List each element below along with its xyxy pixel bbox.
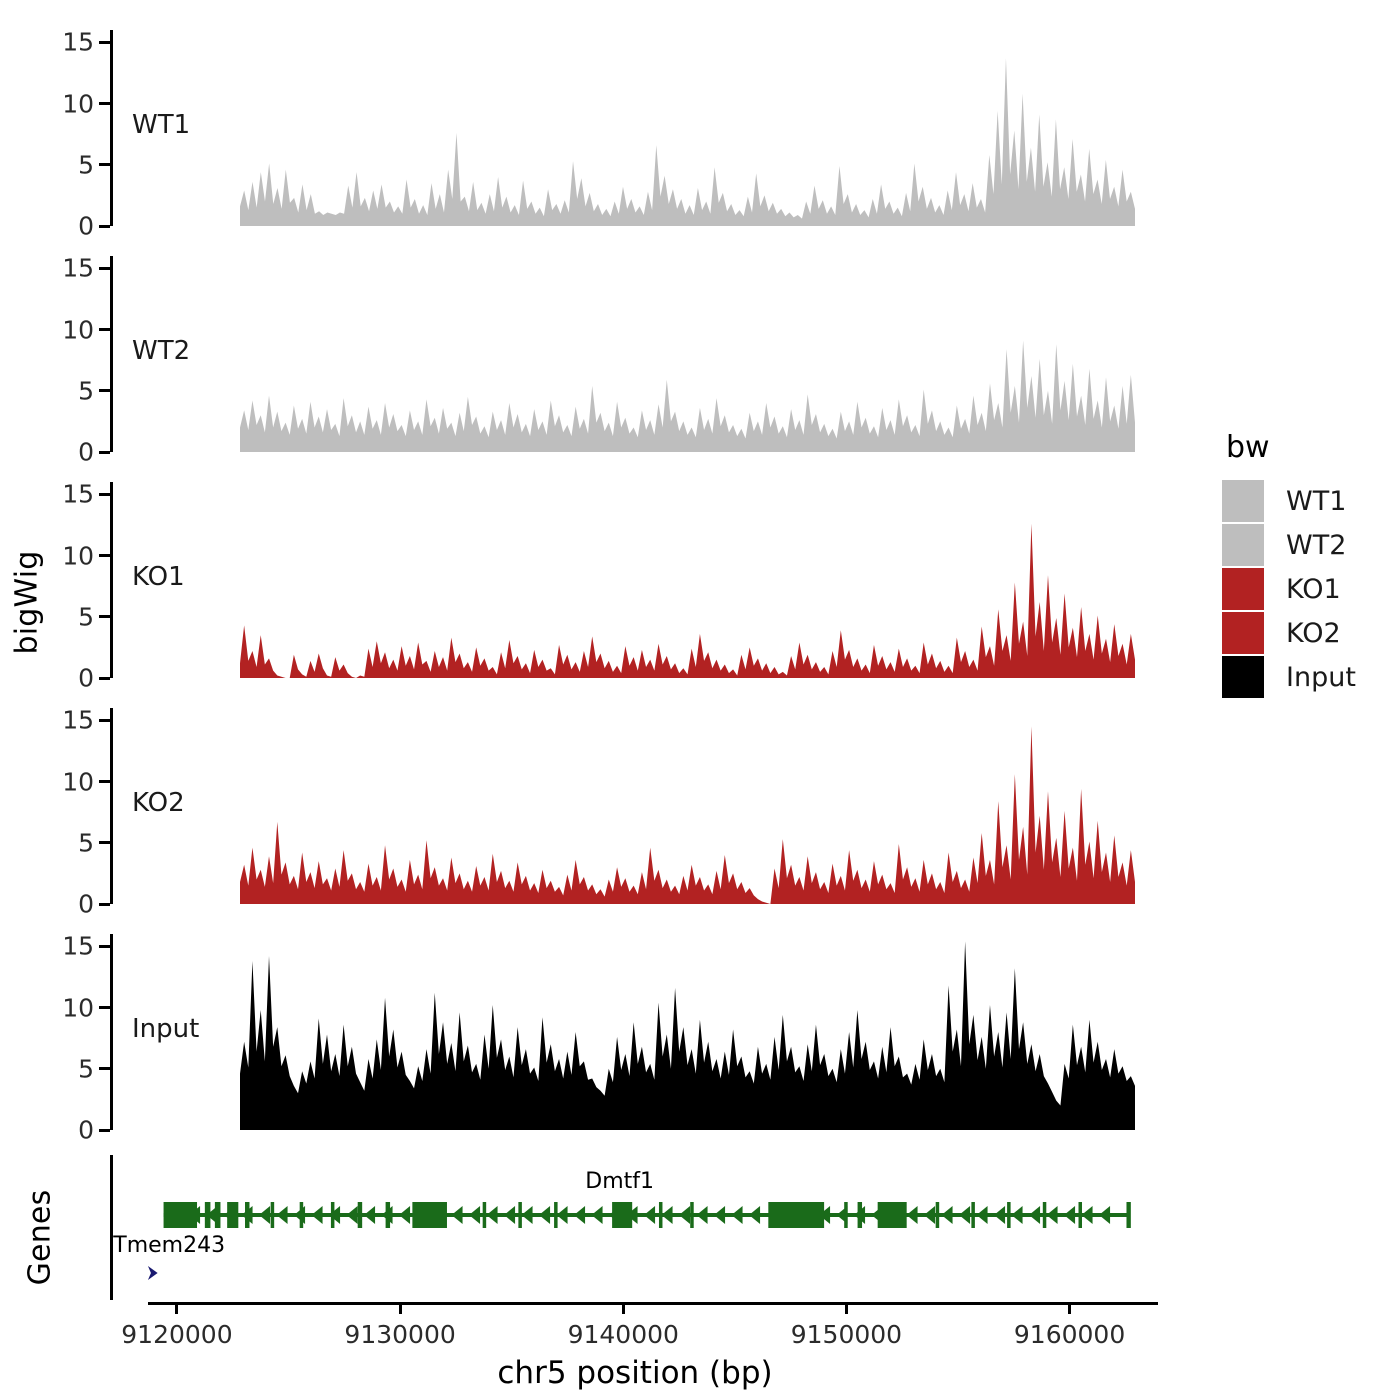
y-tick-label: 5 xyxy=(78,828,94,857)
x-tick xyxy=(622,1302,625,1314)
y-tick-label: 15 xyxy=(62,932,94,961)
y-tick xyxy=(99,615,110,618)
y-tick-label: 0 xyxy=(78,890,94,919)
strand-arrow-icon xyxy=(469,1206,480,1224)
strand-arrow-icon xyxy=(1082,1206,1093,1224)
panel-axis-wt1 xyxy=(110,30,113,226)
y-tick xyxy=(99,1006,110,1009)
strand-arrow-icon xyxy=(679,1206,690,1224)
legend-item-ko2[interactable]: KO2 xyxy=(1222,611,1356,655)
y-tick xyxy=(99,841,110,844)
legend-item-input[interactable]: Input xyxy=(1222,655,1356,699)
strand-arrow-icon xyxy=(539,1206,550,1224)
y-tick-label: 10 xyxy=(62,315,94,344)
gene-exon xyxy=(768,1202,824,1228)
strand-arrow-icon xyxy=(662,1206,673,1224)
y-tick-label: 15 xyxy=(62,28,94,57)
gene-exon xyxy=(271,1202,275,1228)
y-tick-label: 5 xyxy=(78,1054,94,1083)
legend-swatch-ko2 xyxy=(1222,612,1264,654)
panel-label-input: Input xyxy=(132,1014,199,1044)
strand-arrow-icon xyxy=(329,1206,340,1224)
panel-axis-input xyxy=(110,934,113,1130)
gene-exon xyxy=(612,1202,632,1228)
y-tick-label: 15 xyxy=(62,480,94,509)
y-tick-label: 10 xyxy=(62,541,94,570)
gene-exon xyxy=(1079,1202,1083,1228)
legend-swatch-input xyxy=(1222,656,1264,698)
y-tick xyxy=(99,677,110,680)
strand-arrow-icon xyxy=(1012,1206,1023,1224)
y-axis-title-bigwig: bigWig xyxy=(10,543,45,663)
legend-item-wt1[interactable]: WT1 xyxy=(1222,479,1356,523)
gene-label-dmtf1: Dmtf1 xyxy=(585,1169,654,1194)
legend-swatch-ko1 xyxy=(1222,568,1264,610)
strand-arrow-icon xyxy=(644,1206,655,1224)
panel-axis-ko1 xyxy=(110,482,113,678)
gene-exon xyxy=(554,1202,558,1228)
strand-arrow-icon xyxy=(924,1206,935,1224)
gene-exon xyxy=(1007,1202,1011,1228)
legend-items: WT1WT2KO1KO2Input xyxy=(1222,479,1356,699)
y-tick xyxy=(99,1129,110,1132)
track-area-input xyxy=(110,934,1170,1130)
y-tick xyxy=(99,554,110,557)
strand-arrow-icon xyxy=(452,1206,463,1224)
track-area-wt1 xyxy=(110,30,1170,226)
y-tick-label: 10 xyxy=(62,993,94,1022)
gene-tmem243-arrow-icon xyxy=(148,1266,158,1280)
gene-exon xyxy=(215,1202,221,1228)
gene-exon xyxy=(331,1202,335,1228)
x-tick-label: 9130000 xyxy=(344,1320,455,1349)
gene-exon xyxy=(518,1202,522,1228)
y-tick xyxy=(99,389,110,392)
panel-label-ko2: KO2 xyxy=(132,788,185,818)
genome-browser-figure: bigWig Genes 051015WT1051015WT2051015KO1… xyxy=(0,0,1400,1400)
track-panel-wt2: 051015WT2 xyxy=(110,256,1170,452)
track-area-wt2 xyxy=(110,256,1170,452)
strand-arrow-icon xyxy=(557,1206,568,1224)
strand-arrow-icon xyxy=(592,1206,603,1224)
strand-arrow-icon xyxy=(942,1206,953,1224)
x-tick-label: 9120000 xyxy=(121,1320,232,1349)
x-tick-label: 9160000 xyxy=(1014,1320,1125,1349)
y-tick xyxy=(99,267,110,270)
strand-arrow-icon xyxy=(994,1206,1005,1224)
y-tick-label: 0 xyxy=(78,438,94,467)
x-tick xyxy=(175,1302,178,1314)
legend-label: KO2 xyxy=(1286,618,1341,649)
y-tick-label: 10 xyxy=(62,89,94,118)
strand-arrow-icon xyxy=(294,1206,305,1224)
gene-exon xyxy=(386,1202,390,1228)
strand-arrow-icon xyxy=(522,1206,533,1224)
legend-label: WT1 xyxy=(1286,486,1346,517)
gene-exon xyxy=(164,1202,197,1228)
gene-exon xyxy=(412,1202,447,1228)
track-panel-ko2: 051015KO2 xyxy=(110,708,1170,904)
strand-arrow-icon xyxy=(959,1206,970,1224)
panel-label-wt1: WT1 xyxy=(132,110,190,140)
gene-exon xyxy=(300,1202,304,1228)
y-tick xyxy=(99,903,110,906)
strand-arrow-icon xyxy=(697,1206,708,1224)
y-tick xyxy=(99,41,110,44)
y-tick-label: 5 xyxy=(78,150,94,179)
panel-label-ko1: KO1 xyxy=(132,562,185,592)
gene-exon xyxy=(483,1202,487,1228)
legend-swatch-wt1 xyxy=(1222,480,1264,522)
gene-exon xyxy=(858,1202,862,1228)
legend-label: KO1 xyxy=(1286,574,1341,605)
panel-label-wt2: WT2 xyxy=(132,336,190,366)
gene-exon xyxy=(936,1202,940,1228)
legend-item-ko1[interactable]: KO1 xyxy=(1222,567,1356,611)
y-tick-label: 0 xyxy=(78,664,94,693)
strand-arrow-icon xyxy=(749,1206,760,1224)
gene-end-tick xyxy=(1127,1202,1131,1228)
legend-label: WT2 xyxy=(1286,530,1346,561)
strand-arrow-icon xyxy=(1047,1206,1058,1224)
track-panel-input: 051015Input xyxy=(110,934,1170,1130)
strand-arrow-icon xyxy=(347,1206,358,1224)
y-tick xyxy=(99,163,110,166)
strand-arrow-icon xyxy=(1064,1206,1075,1224)
y-tick xyxy=(99,102,110,105)
x-axis-title: chr5 position (bp) xyxy=(0,1355,1270,1391)
gene-label-tmem243: Tmem243 xyxy=(113,1233,225,1258)
y-tick-label: 15 xyxy=(62,254,94,283)
strand-arrow-icon xyxy=(1029,1206,1040,1224)
y-tick-label: 0 xyxy=(78,212,94,241)
strand-arrow-icon xyxy=(277,1206,288,1224)
y-tick xyxy=(99,945,110,948)
gene-exon xyxy=(878,1202,907,1228)
track-area-ko1 xyxy=(110,482,1170,678)
strand-arrow-icon xyxy=(312,1206,323,1224)
strand-arrow-icon xyxy=(574,1206,585,1224)
y-tick-label: 5 xyxy=(78,376,94,405)
x-axis-line xyxy=(148,1302,1158,1305)
gene-exon xyxy=(358,1202,362,1228)
y-tick xyxy=(99,328,110,331)
y-tick xyxy=(99,719,110,722)
y-tick xyxy=(99,493,110,496)
gene-exon xyxy=(1043,1202,1047,1228)
x-tick xyxy=(399,1302,402,1314)
strand-arrow-icon xyxy=(907,1206,918,1224)
gene-exon xyxy=(659,1202,663,1228)
strand-arrow-icon xyxy=(714,1206,725,1224)
y-tick-label: 0 xyxy=(78,1116,94,1145)
strand-arrow-icon xyxy=(732,1206,743,1224)
legend: bw WT1WT2KO1KO2Input xyxy=(1222,430,1356,699)
gene-exon xyxy=(245,1202,249,1228)
strand-arrow-icon xyxy=(504,1206,515,1224)
y-tick xyxy=(99,451,110,454)
x-tick-label: 9140000 xyxy=(568,1320,679,1349)
y-tick xyxy=(99,1067,110,1070)
track-panel-wt1: 051015WT1 xyxy=(110,30,1170,226)
legend-swatch-wt2 xyxy=(1222,524,1264,566)
y-axis-title-genes: Genes xyxy=(23,1178,58,1298)
legend-item-wt2[interactable]: WT2 xyxy=(1222,523,1356,567)
genes-panel: Dmtf1 Tmem243 xyxy=(110,1155,1170,1300)
gene-exon xyxy=(205,1202,211,1228)
y-tick-label: 10 xyxy=(62,767,94,796)
strand-arrow-icon xyxy=(1099,1206,1110,1224)
gene-exon xyxy=(690,1202,694,1228)
y-tick-label: 5 xyxy=(78,602,94,631)
gene-exon xyxy=(971,1202,975,1228)
track-area-ko2 xyxy=(110,708,1170,904)
y-tick xyxy=(99,225,110,228)
panel-axis-ko2 xyxy=(110,708,113,904)
strand-arrow-icon xyxy=(977,1206,988,1224)
x-tick xyxy=(845,1302,848,1314)
y-tick-label: 15 xyxy=(62,706,94,735)
strand-arrow-icon xyxy=(364,1206,375,1224)
x-tick-label: 9150000 xyxy=(791,1320,902,1349)
strand-arrow-icon xyxy=(487,1206,498,1224)
strand-arrow-icon xyxy=(259,1206,270,1224)
gene-exon xyxy=(227,1202,238,1228)
panel-axis-wt2 xyxy=(110,256,113,452)
track-panel-ko1: 051015KO1 xyxy=(110,482,1170,678)
legend-title: bw xyxy=(1226,430,1356,465)
legend-label: Input xyxy=(1286,662,1356,693)
gene-exon xyxy=(844,1202,848,1228)
x-tick xyxy=(1068,1302,1071,1314)
y-tick xyxy=(99,780,110,783)
strand-arrow-icon xyxy=(399,1206,410,1224)
